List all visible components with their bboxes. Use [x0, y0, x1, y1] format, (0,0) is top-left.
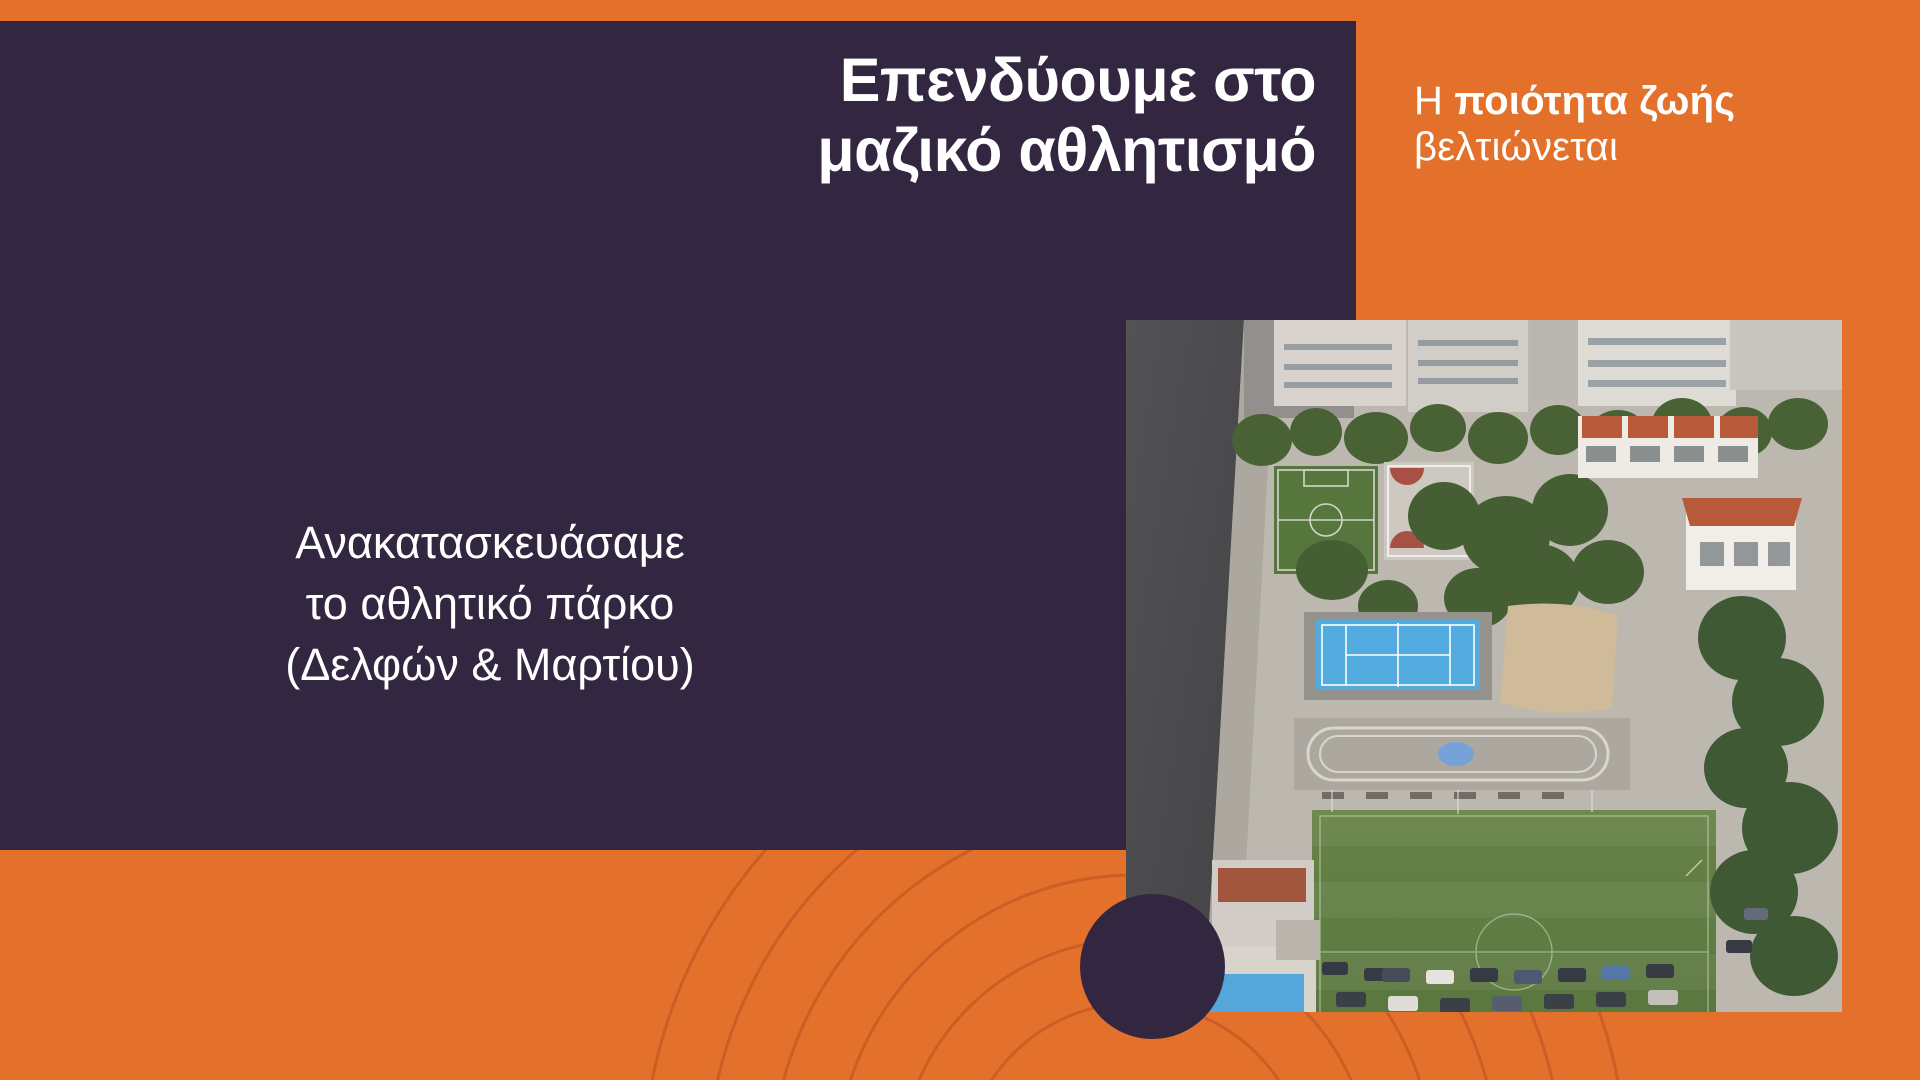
tagline-line-2: βελτιώνεται [1414, 124, 1735, 170]
tagline-prefix: Η [1414, 79, 1454, 123]
photo-haze [1126, 320, 1842, 1012]
tagline-line-1: Η ποιότητα ζωής [1414, 78, 1735, 124]
slide-canvas: Επενδύουμε στο μαζικό αθλητισμό Η ποιότη… [0, 0, 1920, 1080]
body-line-1: Ανακατασκευάσαμε [0, 512, 980, 573]
brand-tagline: Η ποιότητα ζωής βελτιώνεται [1414, 78, 1735, 170]
body-line-3: (Δελφών & Μαρτίου) [0, 634, 980, 695]
page-title: Επενδύουμε στο μαζικό αθλητισμό [0, 46, 1316, 185]
aerial-park-photo [1126, 320, 1842, 1012]
purple-accent-circle [1080, 894, 1225, 1039]
headline-line-1: Επενδύουμε στο [0, 46, 1316, 116]
body-copy: Ανακατασκευάσαμε το αθλητικό πάρκο (Δελφ… [0, 512, 980, 696]
tagline-strong: ποιότητα ζωής [1454, 79, 1735, 123]
body-line-2: το αθλητικό πάρκο [0, 573, 980, 634]
headline-line-2: μαζικό αθλητισμό [0, 116, 1316, 186]
